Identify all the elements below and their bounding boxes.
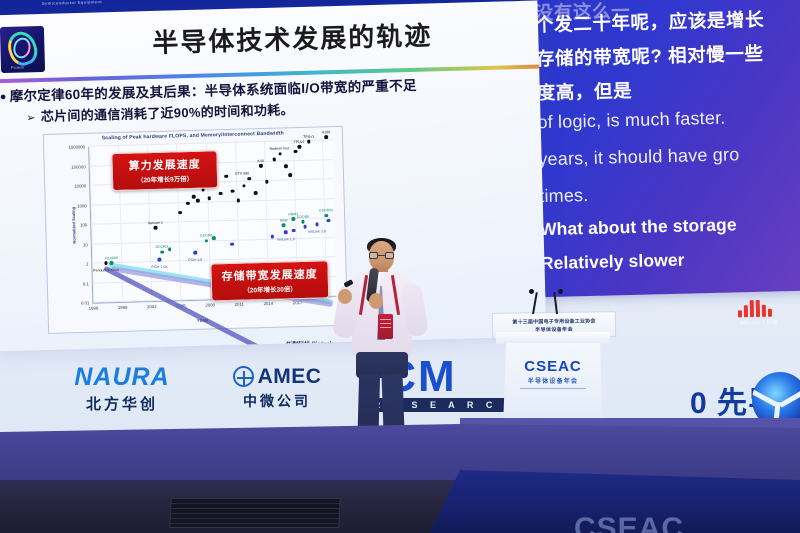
chart-point xyxy=(294,149,298,153)
microphone-head-left xyxy=(529,289,534,294)
callout-compute-speed: 算力发展速度 （20年增长9万倍） xyxy=(111,150,218,191)
chart-point xyxy=(291,217,295,221)
chart-gridline-y xyxy=(91,198,334,206)
callout-compute-sub: （20年增长9万倍） xyxy=(116,172,214,185)
chart-point xyxy=(315,222,319,226)
led-line-7: What about the storage xyxy=(540,214,737,240)
led-line-3: 度高，但是 xyxy=(536,77,632,105)
microphone-head-right xyxy=(558,289,563,294)
chart-point-label: TPUv3 xyxy=(303,135,314,139)
chart-point-label: TPUv2 xyxy=(293,139,304,143)
amec-en-text: AMEC xyxy=(258,365,322,388)
chart-point-label: GDDR3 xyxy=(156,245,169,249)
sphere-ray-2 xyxy=(779,385,800,407)
stage-vent-grille xyxy=(169,498,341,528)
enowie-bars-icon xyxy=(738,300,780,318)
enowie-logo: eNowie | 亿智 xyxy=(724,299,795,330)
sponsor-logo-naura: NAURA 北方华创 xyxy=(52,363,192,414)
chart-point xyxy=(278,152,282,156)
naura-cn-label: 北方华创 xyxy=(52,393,192,414)
chart-point xyxy=(207,197,211,201)
led-line-8: Relatively slower xyxy=(541,250,685,275)
chart-point xyxy=(248,177,252,181)
chart-point xyxy=(186,202,190,206)
chart-point xyxy=(201,188,205,192)
chart-point xyxy=(196,199,200,203)
badge-line-1 xyxy=(380,319,391,320)
chart-point xyxy=(265,180,269,184)
speaker-hand-left xyxy=(338,289,352,304)
chart-ytick-label: 10 xyxy=(83,242,88,247)
chart-point-label: HBM xyxy=(280,218,288,222)
chart-x-axis-label: YEAR xyxy=(197,318,208,323)
chart-point-label: Radeon Inst. xyxy=(269,147,290,152)
chart-point xyxy=(324,135,328,139)
bullet-dot-icon: ● xyxy=(0,91,7,103)
chart-point xyxy=(307,140,311,144)
chart-point xyxy=(237,199,241,203)
chart-gridline-x xyxy=(89,147,94,303)
projected-slide: Piotech 半导体技术发展的轨迹 ●摩尔定律60年的发展及其后果：半导体系统… xyxy=(0,1,546,352)
amec-en-label: AMEC xyxy=(212,365,342,389)
chart-point xyxy=(192,195,196,199)
enowie-label: eNowie | 亿智 xyxy=(724,317,794,326)
chart-point xyxy=(327,219,331,223)
podium-top-surface xyxy=(496,332,610,344)
chart-ytick-label: 1000 xyxy=(77,203,87,208)
badge-line-3 xyxy=(380,327,391,328)
led-line-2: 存储的带宽呢? 相对慢一些 xyxy=(536,40,764,72)
chart-point-label: PCIe 1.0a xyxy=(151,264,167,268)
piotech-logo-label: Piotech xyxy=(11,65,25,69)
chart-point xyxy=(104,261,108,265)
chart-point-label: R10000 xyxy=(105,256,118,260)
chart-point xyxy=(230,189,234,193)
chart-point xyxy=(271,235,275,239)
chart-point xyxy=(179,211,183,215)
chart-xtick-label: 1996 xyxy=(89,306,99,311)
podium-logo-sub: 半导体设备年会 xyxy=(496,376,610,385)
chart-point-label: GTX 580 xyxy=(235,172,249,176)
chart-xtick-label: 2014 xyxy=(264,301,274,306)
amec-mark-icon xyxy=(233,366,254,387)
chart-point xyxy=(324,214,328,218)
chart-point xyxy=(282,223,286,227)
chart-point xyxy=(284,164,288,168)
chart-point xyxy=(301,220,305,224)
chart-ytick-label: 100 xyxy=(80,222,87,227)
chart-point-label: PCIe 1.0 xyxy=(188,257,202,261)
naura-en-label: NAURA xyxy=(52,363,192,392)
chart-ytick-label: 10000 xyxy=(74,183,86,188)
callout-compute-title: 算力发展速度 xyxy=(115,155,213,174)
chart-point xyxy=(303,225,307,229)
podium-logo: CSEAC 半导体设备年会 xyxy=(496,358,610,389)
slide-title: 半导体技术发展的轨迹 xyxy=(112,14,473,64)
chart-y-axis-label: Normalized Scaling xyxy=(71,207,77,244)
piotech-logo: Piotech xyxy=(0,26,45,73)
callout-memory-title: 存储带宽发展速度 xyxy=(214,265,324,284)
chart-point xyxy=(160,250,164,254)
chart-point xyxy=(219,192,223,196)
bullet-arrow-icon: ➢ xyxy=(26,112,36,124)
chart-point xyxy=(205,239,209,243)
chart-ytick-label: 0.1 xyxy=(83,281,89,286)
chart-point xyxy=(259,164,263,168)
chart-ytick-label: 100000 xyxy=(71,164,85,169)
chart-point xyxy=(297,145,301,149)
chart-point xyxy=(292,229,296,233)
chart-point xyxy=(157,258,161,262)
glasses-lens-left xyxy=(369,252,378,259)
chart-ytick-label: 0.01 xyxy=(81,300,90,305)
chart-point-label: GDDR6x xyxy=(319,209,333,213)
led-subtitle-wall: 没有这么一 个发二十年呢，应该是增长 存储的带宽呢? 相对慢一些 度高，但是 o… xyxy=(520,0,800,297)
chart-point-label: NVLink 1.0 xyxy=(277,237,295,241)
slide-bullet-2-text: 芯片间的通信消耗了近90%的时间和功耗。 xyxy=(41,102,294,124)
chart-point xyxy=(168,248,172,252)
speaker-glasses-icon xyxy=(369,252,394,259)
led-line-5: years, it should have gro xyxy=(538,144,740,170)
chart-point-label: Pentium II Xeon xyxy=(93,268,119,273)
chart-point xyxy=(254,191,258,195)
stage-apron-text: CSEAC xyxy=(574,512,684,533)
podium-logo-rule xyxy=(520,388,586,389)
led-line-6: times. xyxy=(539,185,589,207)
podium-logo-mark: CSEAC xyxy=(496,358,610,375)
signboard-line-1: 第十三届中国电子专用设备工业协会 xyxy=(512,317,595,325)
led-line-4: of logic, is much faster. xyxy=(537,108,726,134)
chart-point xyxy=(110,261,114,265)
chart-point xyxy=(272,158,276,162)
amec-cn-label: 中微公司 xyxy=(212,391,342,411)
chart-xtick-label: 2011 xyxy=(235,302,244,307)
badge-line-2 xyxy=(380,323,391,324)
chart-point-label: NVLink 3.0 xyxy=(308,229,326,233)
chart-point xyxy=(288,173,292,177)
screenshot-root: Semiconductor Equipment o Academy of Sci… xyxy=(0,0,800,533)
chart-ytick-label: 1 xyxy=(86,261,89,266)
chart-point xyxy=(193,251,197,255)
speaker-hand-right xyxy=(369,293,383,309)
chart-point xyxy=(284,230,288,234)
chart-point xyxy=(212,236,216,240)
chart-point-label: K40 xyxy=(257,159,263,163)
chart-point xyxy=(242,184,246,188)
chart-point xyxy=(230,242,234,246)
chart-ytick-label: 1000000 xyxy=(68,144,85,149)
chart-xtick-label: 2002 xyxy=(147,304,157,309)
callout-memory-sub: （20年增长30倍） xyxy=(215,282,325,295)
chart-point-label: GDDR6 xyxy=(297,215,310,219)
chart-point xyxy=(224,174,228,178)
sponsor-logo-amec: AMEC 中微公司 xyxy=(212,365,342,411)
chart-point-label: GDDR5 xyxy=(200,234,213,238)
led-line-1: 个发二十年呢，应该是增长 xyxy=(535,6,765,38)
glasses-lens-right xyxy=(385,252,394,259)
chart-xtick-label: 1999 xyxy=(118,305,128,310)
chart-xtick-label: 2008 xyxy=(205,302,215,307)
chart-point xyxy=(154,226,158,230)
chart-point-label: Itanium 2 xyxy=(148,221,163,225)
callout-memory-bandwidth: 存储带宽发展速度 （20年增长30倍） xyxy=(210,260,329,301)
speaker-badge xyxy=(378,314,393,339)
chart-point-label: A100 xyxy=(322,130,330,134)
glasses-bridge xyxy=(378,255,385,256)
